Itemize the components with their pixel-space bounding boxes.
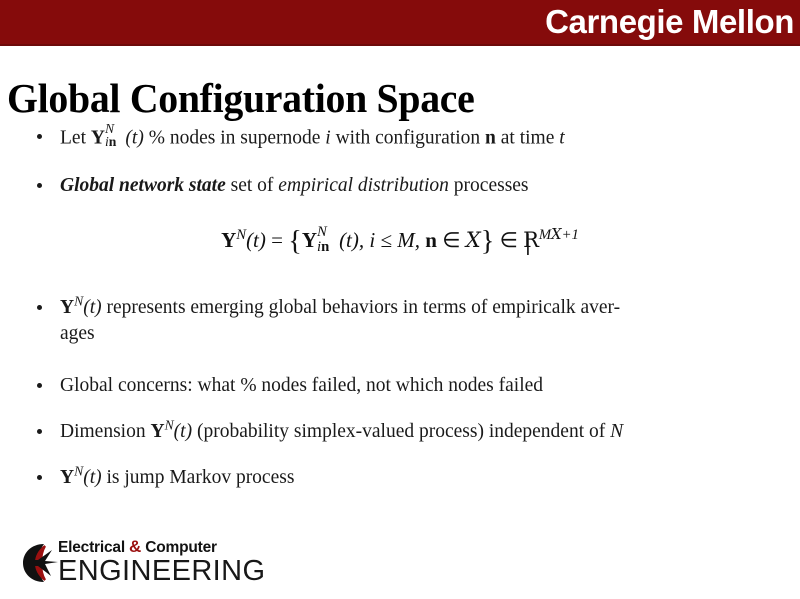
list-item: Dimension YN(t) (probability simplex-val… <box>0 419 800 445</box>
page-title: Global Configuration Space <box>7 76 475 120</box>
bullet-1-var-i: i <box>325 128 330 149</box>
bullet-2-plain: set of <box>231 175 274 196</box>
bullet-3-line1: represents emerging global behaviors in … <box>106 297 620 318</box>
equation-inner-arg: (t), <box>339 228 364 252</box>
bullet-1-mid2: with configuration <box>336 128 481 149</box>
bullet-6-symbol-sup: N <box>74 463 83 478</box>
bullet-3-line2: ages <box>60 323 95 344</box>
bullet-1-symbol-sub: in <box>105 129 116 155</box>
equation-vec-n: n <box>425 228 437 252</box>
bullet-5-symbol-sup: N <box>165 417 174 432</box>
equation-bound: M, <box>397 228 420 252</box>
bullet-3-arg: (t) <box>83 297 101 318</box>
bullet-1-symbol-indices: Nin <box>105 124 125 144</box>
equation-reals-symbol: R| <box>523 228 539 252</box>
equation-equals: = <box>271 228 283 252</box>
slide-canvas: Carnegie Mellon Global Configuration Spa… <box>0 0 800 599</box>
ece-logo-text: Electrical & Computer ENGINEERING <box>58 538 263 586</box>
bullet-5-lead: Dimension <box>60 421 146 442</box>
equation-set-x: X <box>466 228 481 252</box>
equation-lhs-arg: (t) <box>246 228 266 252</box>
ece-logo-line-1: Electrical & Computer <box>58 538 263 556</box>
bullet-2-tail: processes <box>454 175 529 196</box>
display-equation: YN(t) = {YNin(t), i ≤ M, n ∈ X} ∈ R|MX+1 <box>0 225 800 257</box>
ece-arc-bird-logo-icon <box>14 540 62 586</box>
bullet-list: Let YNin(t) % nodes in supernode i with … <box>0 124 800 491</box>
bullet-6-arg: (t) <box>83 467 101 488</box>
bullet-1-var-t: t <box>559 128 564 149</box>
equation-member-symbol-2: ∈ <box>500 228 518 252</box>
bullet-5-symbol-base: Y <box>150 421 164 442</box>
equation-inner-base: Y <box>302 228 317 252</box>
bullet-3-symbol-base: Y <box>60 297 74 318</box>
equation-close-brace: } <box>481 226 495 257</box>
equation-member-symbol: ∈ <box>442 228 460 252</box>
bullet-5-var-n: N <box>610 421 623 442</box>
bullet-2-term: Global network state <box>60 175 226 196</box>
equation-inner-sub: in <box>317 232 329 262</box>
list-item: Let YNin(t) % nodes in supernode i with … <box>0 124 800 152</box>
bullet-dot-icon <box>37 429 42 434</box>
ece-logo-computer: Computer <box>145 539 217 556</box>
bullet-1-mid: % nodes in supernode <box>149 128 321 149</box>
bullet-1-mid3: at time <box>501 128 555 149</box>
list-item: YN(t) represents emerging global behavio… <box>0 295 800 347</box>
bullet-6-symbol-base: Y <box>60 467 74 488</box>
list-item: Global concerns: what % nodes failed, no… <box>0 373 800 399</box>
bullet-1-symbol-base: Y <box>91 128 105 149</box>
equation-lhs-base: Y <box>221 228 236 252</box>
ece-logo-electrical: Electrical <box>58 539 125 556</box>
equation-reals-double-stroke: | <box>524 228 531 258</box>
bullet-dot-icon <box>37 183 42 188</box>
bullet-dot-icon <box>37 383 42 388</box>
university-brand-label: Carnegie Mellon <box>545 3 794 41</box>
bullet-4-text: Global concerns: what % nodes failed, no… <box>60 375 543 396</box>
ece-logo-ampersand: & <box>129 537 141 556</box>
bullet-5-mid: (probability simplex-valued process) ind… <box>197 421 605 442</box>
ece-logo-line-2: ENGINEERING <box>58 556 263 586</box>
bullet-1-var-n: n <box>485 128 496 149</box>
bullet-1-lead: Let <box>60 128 86 149</box>
list-item: YN(t) is jump Markov process <box>0 465 800 491</box>
equation-leq-symbol: ≤ <box>380 228 392 252</box>
bullet-dot-icon <box>37 134 42 139</box>
equation-inner-indices: Nin <box>317 226 339 247</box>
equation-open-brace: { <box>288 226 302 257</box>
bullet-5-arg: (t) <box>174 421 192 442</box>
bullet-3-symbol-sup: N <box>74 293 83 308</box>
ece-logo: Electrical & Computer ENGINEERING <box>14 538 264 590</box>
bullet-dot-icon <box>37 305 42 310</box>
list-item: Global network state set of empirical di… <box>0 173 800 199</box>
header-divider-rule <box>0 44 800 46</box>
bullet-2-italic: empirical distribution <box>278 175 449 196</box>
equation-lhs-sup: N <box>236 227 246 243</box>
bullet-6-tail: is jump Markov process <box>106 467 294 488</box>
equation-reals-exponent: MX+1 <box>539 227 579 243</box>
equation-index-var: i <box>369 228 375 252</box>
bullet-dot-icon <box>37 475 42 480</box>
bullet-1-arg: (t) <box>125 128 143 149</box>
